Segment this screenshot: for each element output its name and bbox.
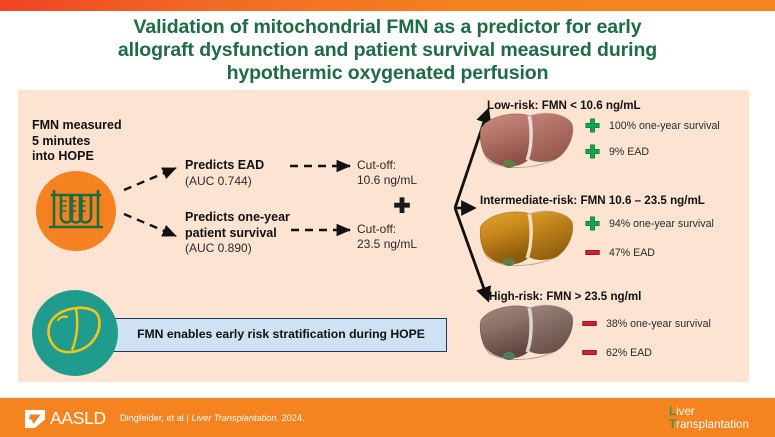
combine-criteria-plus [392, 196, 412, 216]
green-plus-icon [585, 144, 600, 159]
citation-authors: Dingfelder, et al | [120, 413, 191, 423]
top-accent-bar [0, 0, 775, 11]
test-tube-rack-badge [36, 171, 116, 251]
predicts-survival-heading-line-1: Predicts one-year [185, 210, 290, 226]
stat-intermediate-ead-text: 47% EAD [609, 247, 655, 259]
citation-journal: Liver Transplantation [191, 413, 276, 423]
stat-intermediate-ead: 47% EAD [585, 245, 655, 260]
citation-year: . 2024. [276, 413, 304, 423]
cutoff-ead-block: Cut-off: 10.6 ng/mL [357, 158, 417, 188]
fmn-measurement-label: FMN measured 5 minutes into HOPE [32, 118, 122, 165]
citation: Dingfelder, et al | Liver Transplantatio… [120, 413, 305, 423]
fmn-measurement-line-2: 5 minutes [32, 134, 122, 150]
cutoff-ead-label: Cut-off: [357, 158, 417, 173]
page-title: Validation of mitochondrial FMN as a pre… [30, 16, 745, 85]
liver-image-intermediate-risk [478, 206, 578, 279]
red-minus-icon [582, 345, 597, 360]
stat-intermediate-survival: 94% one-year survival [585, 216, 714, 231]
cutoff-survival-block: Cut-off: 23.5 ng/mL [357, 222, 417, 252]
stat-high-survival: 38% one-year survival [582, 316, 711, 331]
healthy-liver-icon [478, 108, 578, 176]
lt-logo-rest-ransplantation: ransplantation [676, 418, 749, 431]
damaged-liver-icon [478, 300, 578, 368]
page-title-line-2: allograft dysfunction and patient surviv… [30, 39, 745, 62]
stat-high-survival-text: 38% one-year survival [606, 318, 711, 330]
stat-low-survival-text: 100% one-year survival [609, 120, 720, 132]
page-title-line-1: Validation of mitochondrial FMN as a pre… [30, 16, 745, 39]
footer-bar [0, 398, 775, 437]
green-plus-icon [585, 216, 600, 231]
stat-high-ead: 62% EAD [582, 345, 652, 360]
liver-image-high-risk [478, 300, 578, 373]
stat-low-survival: 100% one-year survival [585, 118, 720, 133]
predicts-survival-heading-line-2: patient survival [185, 226, 290, 242]
aasld-logo-text: AASLD [50, 408, 106, 429]
cutoff-survival-value: 23.5 ng/mL [357, 237, 417, 252]
lt-logo-rest-iver: iver [676, 405, 695, 418]
page-title-line-3: hypothermic oxygenated perfusion [30, 62, 745, 85]
liver-transplantation-logo: Liver Transplantation [669, 406, 749, 432]
conclusion-badge [32, 290, 118, 376]
lt-logo-line-2: Transplantation [669, 419, 749, 432]
stat-low-ead: 9% EAD [585, 144, 649, 159]
stat-high-ead-text: 62% EAD [606, 347, 652, 359]
predicts-survival-block: Predicts one-year patient survival (AUC … [185, 210, 290, 257]
predicts-ead-block: Predicts EAD (AUC 0.744) [185, 158, 264, 189]
aasld-logo-icon [24, 409, 48, 429]
predicts-ead-auc: (AUC 0.744) [185, 174, 264, 190]
cutoff-survival-label: Cut-off: [357, 222, 417, 237]
stat-low-ead-text: 9% EAD [609, 146, 649, 158]
conclusion-text: FMN enables early risk stratification du… [122, 327, 440, 341]
steatotic-liver-icon [478, 206, 578, 274]
predicts-ead-heading: Predicts EAD [185, 158, 264, 174]
green-plus-icon [585, 118, 600, 133]
red-minus-icon [582, 316, 597, 331]
test-tube-rack-icon [36, 171, 116, 251]
plus-icon [392, 196, 412, 216]
liver-outline-icon [32, 290, 118, 376]
red-minus-icon [585, 245, 600, 260]
cutoff-ead-value: 10.6 ng/mL [357, 173, 417, 188]
fmn-measurement-line-3: into HOPE [32, 149, 122, 165]
fmn-measurement-line-1: FMN measured [32, 118, 122, 134]
stat-intermediate-survival-text: 94% one-year survival [609, 218, 714, 230]
predicts-survival-auc: (AUC 0.890) [185, 241, 290, 257]
liver-image-low-risk [478, 108, 578, 181]
aasld-logo: AASLD [24, 408, 106, 429]
